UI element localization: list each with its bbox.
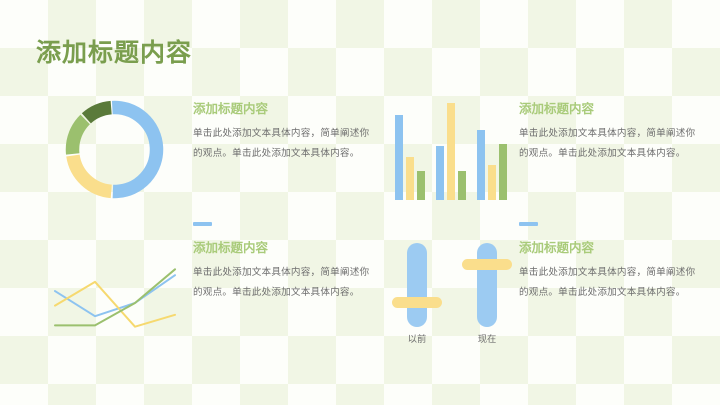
block-body-text: 单击此处添加文本具体内容，简单阐述你的观点。单击此处添加文本具体内容。 (519, 124, 701, 163)
bar-group (395, 103, 425, 200)
slider-knob[interactable] (392, 297, 442, 308)
bar-group (436, 103, 466, 200)
block-heading: 添加标题内容 (193, 237, 375, 256)
bar (458, 171, 466, 200)
slider-knob[interactable] (462, 259, 512, 270)
block-heading: 添加标题内容 (519, 237, 701, 256)
bar (406, 157, 414, 200)
bar (488, 165, 496, 200)
block-heading: 添加标题内容 (193, 98, 375, 117)
block-body-text: 单击此处添加文本具体内容，简单阐述你的观点。单击此处添加文本具体内容。 (193, 263, 375, 302)
donut-slice-group (70, 105, 158, 193)
bar (395, 115, 403, 200)
accent-dash-icon (519, 222, 538, 226)
slider-track[interactable] (407, 243, 427, 327)
block-body-text: 单击此处添加文本具体内容，简单阐述你的观点。单击此处添加文本具体内容。 (193, 124, 375, 163)
bar (499, 144, 507, 200)
slider-track[interactable] (477, 243, 497, 327)
slider-column: 现在 (460, 243, 514, 347)
line-series (55, 269, 175, 325)
content-block-bottom-left: 添加标题内容 单击此处添加文本具体内容，简单阐述你的观点。单击此处添加文本具体内… (193, 222, 375, 302)
bar (436, 146, 444, 200)
donut-chart-svg (64, 99, 165, 200)
line-chart-svg (53, 262, 177, 336)
content-block-bottom-right: 添加标题内容 单击此处添加文本具体内容，简单阐述你的观点。单击此处添加文本具体内… (519, 222, 701, 302)
slide-canvas: 添加标题内容 以前现在 添加标题内容 单击此处添加文本具体内容，简单阐述你的观点… (0, 0, 720, 405)
donut-chart (64, 99, 165, 200)
bar (477, 130, 485, 200)
accent-dash-icon (193, 222, 212, 226)
bar (417, 171, 425, 200)
slider-comparison-chart: 以前现在 (390, 243, 516, 347)
content-block-top-right: 添加标题内容 单击此处添加文本具体内容，简单阐述你的观点。单击此处添加文本具体内… (519, 98, 701, 163)
content-block-top-left: 添加标题内容 单击此处添加文本具体内容，简单阐述你的观点。单击此处添加文本具体内… (193, 98, 375, 163)
slider-label: 以前 (390, 331, 444, 345)
slider-column: 以前 (390, 243, 444, 347)
grouped-bar-chart (395, 103, 511, 200)
slider-label: 现在 (460, 331, 514, 345)
page-title: 添加标题内容 (36, 33, 192, 69)
line-chart (53, 262, 177, 336)
line-series-group (55, 269, 175, 326)
block-body-text: 单击此处添加文本具体内容，简单阐述你的观点。单击此处添加文本具体内容。 (519, 263, 701, 302)
bar-group (477, 103, 507, 200)
bar (447, 103, 455, 200)
block-heading: 添加标题内容 (519, 98, 701, 117)
